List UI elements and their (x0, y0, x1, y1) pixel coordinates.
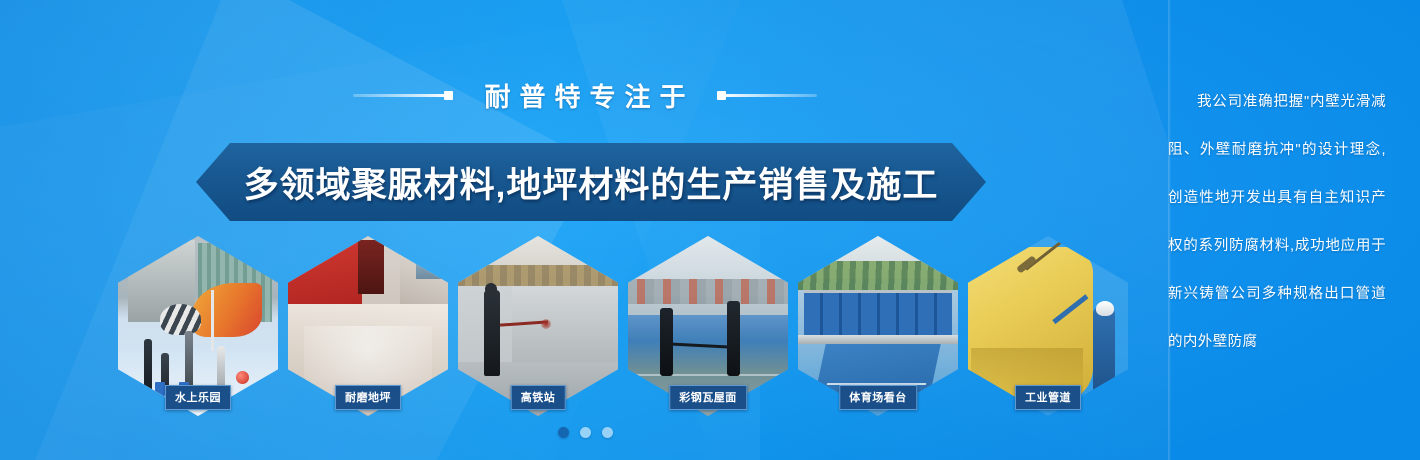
carousel-dots (0, 427, 1170, 438)
hexagon-caption: 水上乐园 (165, 385, 231, 410)
hexagon-item-high-speed-rail-station[interactable]: 高铁站 (458, 236, 618, 416)
decorative-rule-left-icon (353, 94, 449, 97)
hexagon-item-water-park[interactable]: 水上乐园 (118, 236, 278, 416)
hexagon-item-wear-resistant-floor[interactable]: 耐磨地坪 (288, 236, 448, 416)
side-paragraph-text: 我公司准确把握"内壁光滑减阻、外壁耐磨抗冲"的设计理念,创造性地开发出具有自主知… (1168, 78, 1386, 366)
hexagon-caption: 体育场看台 (839, 385, 917, 410)
side-paragraph: 我公司准确把握"内壁光滑减阻、外壁耐磨抗冲"的设计理念,创造性地开发出具有自主知… (1168, 78, 1386, 366)
hexagon-caption: 耐磨地坪 (335, 385, 401, 410)
hexagon-caption: 高铁站 (511, 385, 566, 410)
decorative-rule-right-icon (721, 94, 817, 97)
hexagon-item-color-steel-tile-roof[interactable]: 彩钢瓦屋面 (628, 236, 788, 416)
hexagon-item-stadium-grandstand[interactable]: 体育场看台 (798, 236, 958, 416)
eyebrow-row: 耐普特专注于 (0, 74, 1170, 116)
eyebrow-text: 耐普特专注于 (475, 77, 694, 114)
hexagon-gallery: 水上乐园 耐磨地坪 高铁站 (118, 236, 1138, 416)
carousel-dot-2[interactable] (580, 427, 591, 438)
hexagon-item-industrial-pipeline[interactable]: 工业管道 (968, 236, 1128, 416)
promo-banner: 耐普特专注于 多领域聚脲材料,地坪材料的生产销售及施工 水上乐园 (0, 0, 1420, 460)
carousel-dot-3[interactable] (602, 427, 613, 438)
carousel-dot-1[interactable] (558, 427, 569, 438)
headline-text: 多领域聚脲材料,地坪材料的生产销售及施工 (244, 157, 939, 208)
hexagon-caption: 工业管道 (1015, 385, 1081, 410)
hexagon-caption: 彩钢瓦屋面 (669, 385, 747, 410)
headline-band: 多领域聚脲材料,地坪材料的生产销售及施工 (196, 143, 986, 221)
